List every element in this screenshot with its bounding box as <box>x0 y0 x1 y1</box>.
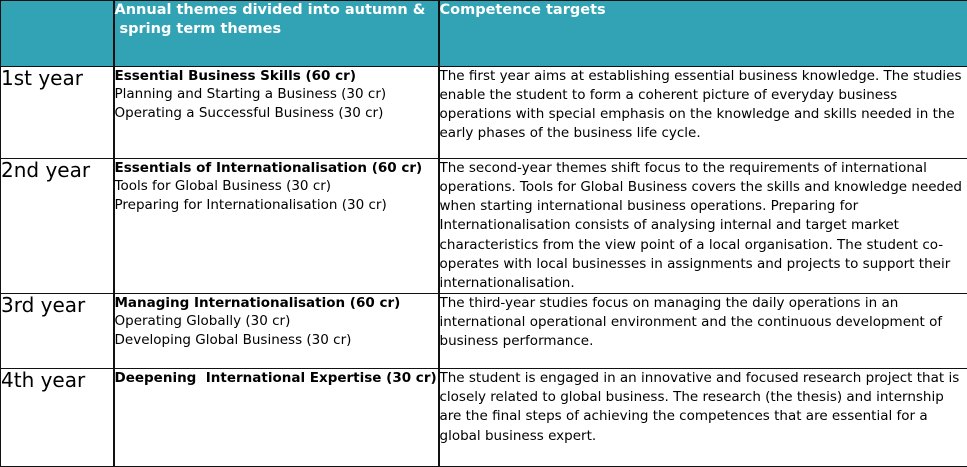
table-row: 3rd year Managing Internationalisation (… <box>1 294 967 369</box>
annual-themes-cell: Deepening International Expertise (30 cr… <box>114 369 439 467</box>
theme-title: Deepening International Expertise (30 cr… <box>115 369 438 387</box>
table-body: 1st year Essential Business Skills (60 c… <box>1 67 967 467</box>
column-header-year <box>1 1 114 67</box>
theme-subitem: Developing Global Business (30 cr) <box>115 331 438 349</box>
competence-target-text: The first year aims at establishing esse… <box>439 67 967 159</box>
table-row: 1st year Essential Business Skills (60 c… <box>1 67 967 159</box>
table-row: 4th year Deepening International Experti… <box>1 369 967 467</box>
competence-target-text: The second-year themes shift focus to th… <box>439 159 967 294</box>
year-label: 4th year <box>1 369 114 467</box>
column-header-competence-targets: Competence targets <box>439 1 967 67</box>
theme-title: Essentials of Internationalisation (60 c… <box>115 159 438 177</box>
year-label: 1st year <box>1 67 114 159</box>
theme-title: Essential Business Skills (60 cr) <box>115 67 438 85</box>
curriculum-table-container: Annual themes divided into autumn & spri… <box>0 0 967 456</box>
competence-target-text: The third-year studies focus on managing… <box>439 294 967 369</box>
annual-themes-cell: Essentials of Internationalisation (60 c… <box>114 159 439 294</box>
competence-target-text: The student is engaged in an innovative … <box>439 369 967 467</box>
curriculum-table: Annual themes divided into autumn & spri… <box>0 0 967 467</box>
table-header: Annual themes divided into autumn & spri… <box>1 1 967 67</box>
column-header-annual-themes-line2: spring term themes <box>115 20 438 39</box>
year-label: 3rd year <box>1 294 114 369</box>
annual-themes-cell: Essential Business Skills (60 cr) Planni… <box>114 67 439 159</box>
column-header-annual-themes: Annual themes divided into autumn & spri… <box>114 1 439 67</box>
column-header-annual-themes-line1: Annual themes divided into autumn & <box>115 2 426 18</box>
header-row: Annual themes divided into autumn & spri… <box>1 1 967 67</box>
theme-title: Managing Internationalisation (60 cr) <box>115 294 438 312</box>
table-row: 2nd year Essentials of Internationalisat… <box>1 159 967 294</box>
year-label: 2nd year <box>1 159 114 294</box>
theme-subitem: Operating a Successful Business (30 cr) <box>115 104 438 122</box>
theme-subitem: Planning and Starting a Business (30 cr) <box>115 85 438 103</box>
theme-subitem: Preparing for Internationalisation (30 c… <box>115 196 438 214</box>
theme-subitem: Operating Globally (30 cr) <box>115 312 438 330</box>
theme-subitem: Tools for Global Business (30 cr) <box>115 177 438 195</box>
annual-themes-cell: Managing Internationalisation (60 cr) Op… <box>114 294 439 369</box>
